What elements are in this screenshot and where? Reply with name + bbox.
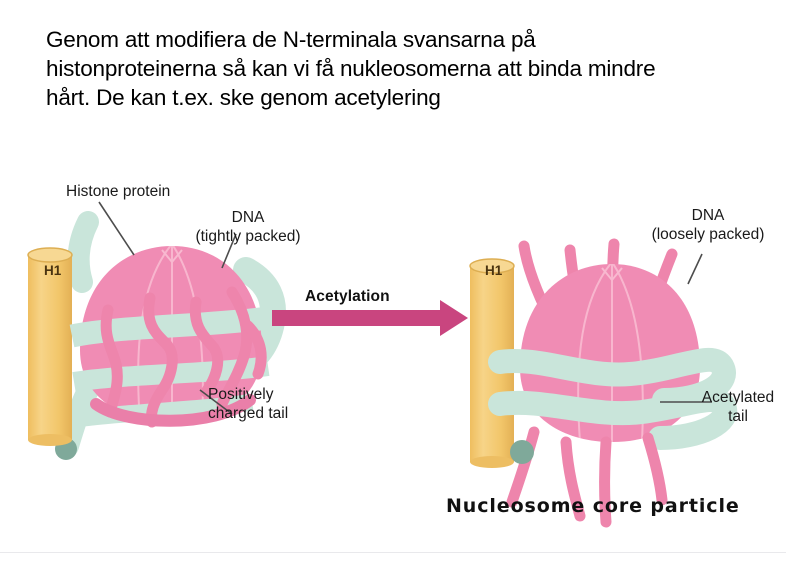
page-title: Genom att modifiera de N-terminala svans… (46, 25, 762, 112)
label-positively-charged-tail: Positively charged tail (208, 385, 328, 423)
dna-end-cap-right (510, 440, 534, 464)
figure-caption: Nucleosome core particle (446, 495, 740, 517)
right-nucleosome-group (470, 244, 725, 522)
label-dna-tightly-packed: DNA (tightly packed) (176, 208, 320, 246)
label-acetylated-tail: Acetylated tail (690, 388, 786, 426)
label-h1-right: H1 (485, 263, 502, 278)
bottom-divider (0, 552, 786, 553)
label-h1-left: H1 (44, 263, 61, 278)
label-acetylation: Acetylation (305, 288, 390, 306)
nucleosome-acetylation-diagram: Histone protein DNA (tightly packed) Pos… (0, 150, 786, 550)
label-histone-protein: Histone protein (66, 182, 170, 201)
label-dna-loosely-packed: DNA (loosely packed) (638, 206, 778, 244)
